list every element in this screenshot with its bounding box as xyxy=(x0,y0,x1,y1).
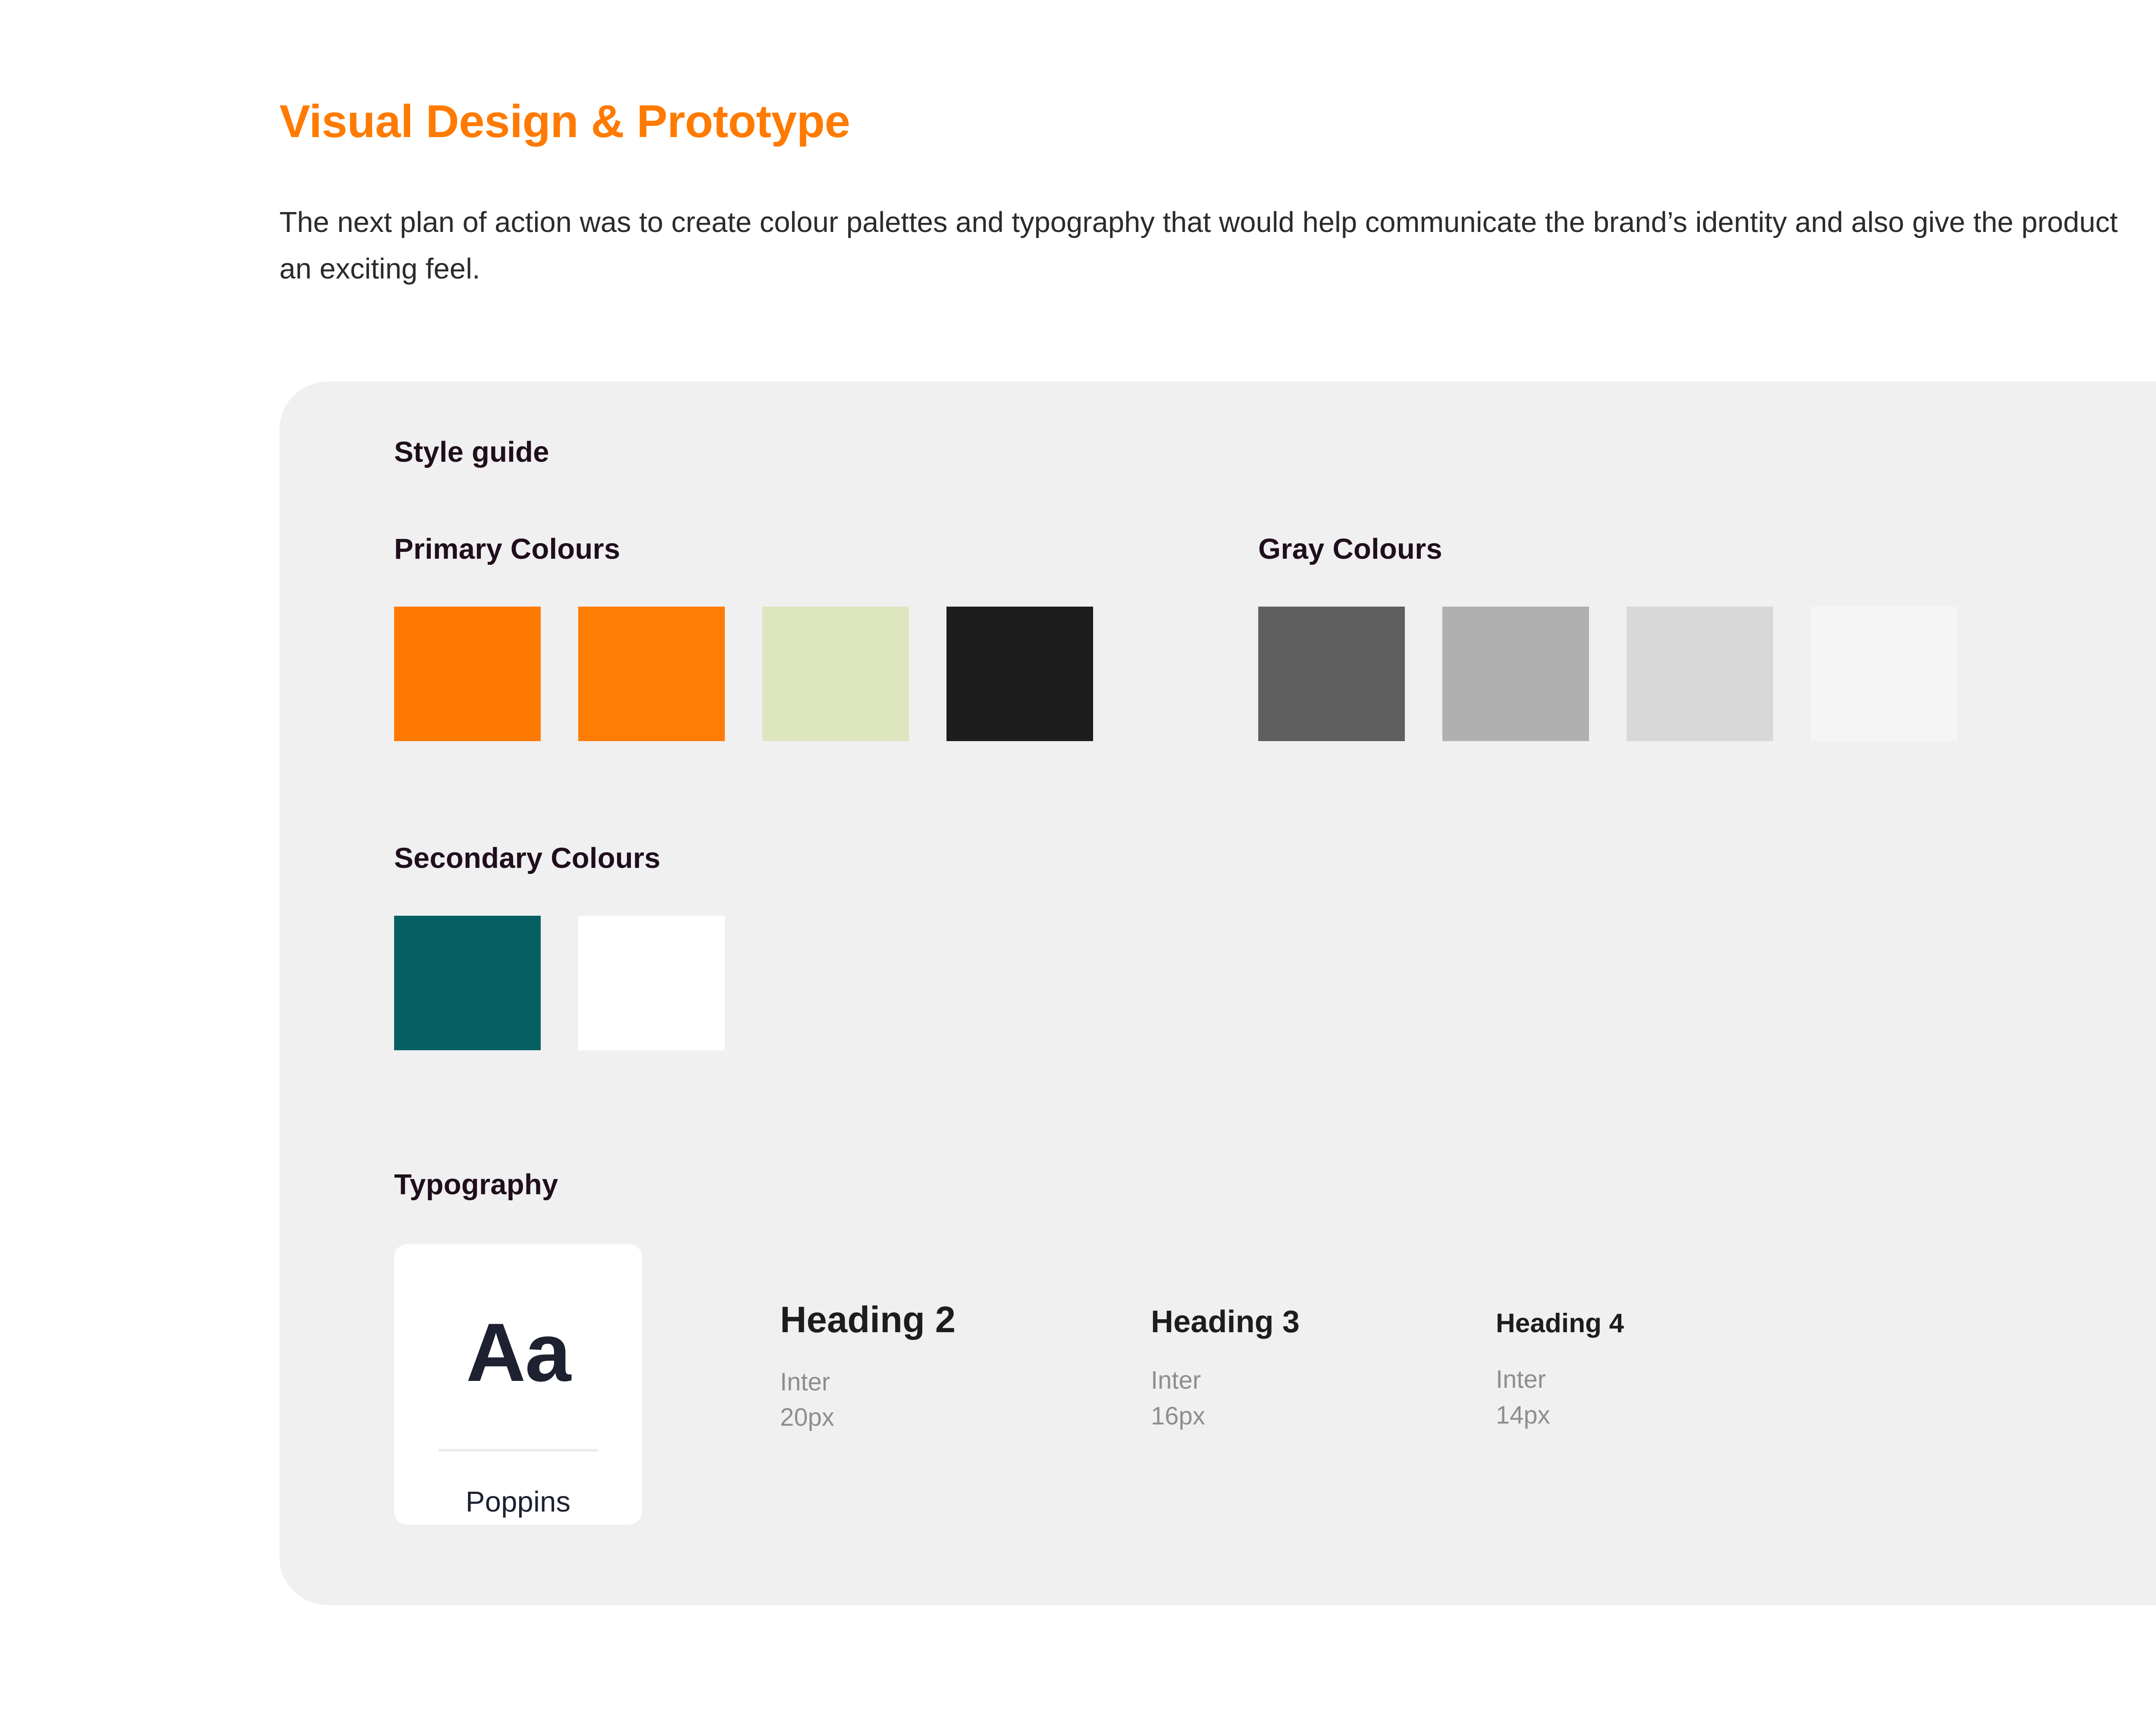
gray-colours-label: Gray Colours xyxy=(1258,532,1957,566)
specimen-title-heading-2: Heading 2 xyxy=(780,1298,1151,1342)
style-guide-panel: Style guide Primary Colours Gray Colours xyxy=(279,382,2156,1605)
specimen-meta-heading-3: Inter 16px xyxy=(1151,1340,1496,1434)
primary-colours-label: Primary Colours xyxy=(394,532,1093,566)
swatch-primary-near-black[interactable] xyxy=(946,607,1093,741)
swatch-gray-400[interactable] xyxy=(1442,607,1589,741)
specimen-title-heading-3: Heading 3 xyxy=(1151,1298,1496,1340)
specimen-size-heading-3: 16px xyxy=(1151,1399,1496,1434)
font-family-name: Poppins xyxy=(466,1452,571,1518)
secondary-swatch-row xyxy=(394,875,725,1050)
specimen-size-heading-2: 20px xyxy=(780,1400,1151,1435)
gray-swatch-row xyxy=(1258,566,1957,741)
specimen-font-heading-2: Inter xyxy=(780,1365,1151,1400)
specimen-meta-heading-4: Inter 14px xyxy=(1496,1340,1798,1433)
specimen-title-heading-4: Heading 4 xyxy=(1496,1298,1798,1340)
specimen-meta-heading-2: Inter 20px xyxy=(780,1342,1151,1436)
gray-colours-group: Gray Colours xyxy=(1258,532,1957,741)
swatch-gray-100[interactable] xyxy=(1811,607,1957,741)
page-title: Visual Design & Prototype xyxy=(279,96,2156,147)
type-specimen-list: Heading 2 Inter 20px Heading 3 Inter 16p… xyxy=(642,1244,1798,1436)
type-specimen-heading-3: Heading 3 Inter 16px xyxy=(1151,1298,1496,1434)
swatch-primary-orange-2[interactable] xyxy=(578,607,725,741)
typography-label: Typography xyxy=(394,1168,1798,1201)
page-root: Visual Design & Prototype The next plan … xyxy=(0,0,2156,1709)
type-specimen-heading-2: Heading 2 Inter 20px xyxy=(780,1298,1151,1436)
swatch-gray-300[interactable] xyxy=(1626,607,1773,741)
specimen-font-heading-4: Inter xyxy=(1496,1362,1798,1397)
primary-colours-group: Primary Colours xyxy=(394,532,1093,741)
swatch-primary-pale-green[interactable] xyxy=(762,607,909,741)
typography-area: Aa Poppins Heading 2 Inter 20px Heading … xyxy=(394,1201,1798,1524)
swatch-secondary-white[interactable] xyxy=(578,916,725,1050)
secondary-colours-group: Secondary Colours xyxy=(394,842,725,1050)
typography-group: Typography Aa Poppins Heading 2 Inter 20… xyxy=(394,1168,1798,1524)
swatch-gray-600[interactable] xyxy=(1258,607,1405,741)
primary-swatch-row xyxy=(394,566,1093,741)
swatch-primary-orange-1[interactable] xyxy=(394,607,541,741)
secondary-colours-label: Secondary Colours xyxy=(394,842,725,875)
specimen-font-heading-3: Inter xyxy=(1151,1363,1496,1398)
intro-paragraph: The next plan of action was to create co… xyxy=(279,147,2151,293)
specimen-size-heading-4: 14px xyxy=(1496,1398,1798,1433)
font-sample-aa: Aa xyxy=(466,1244,570,1394)
header-block: Visual Design & Prototype The next plan … xyxy=(279,96,2156,293)
swatch-secondary-teal[interactable] xyxy=(394,916,541,1050)
style-guide-heading: Style guide xyxy=(394,435,549,469)
type-specimen-heading-4: Heading 4 Inter 14px xyxy=(1496,1298,1798,1433)
font-family-card[interactable]: Aa Poppins xyxy=(394,1244,642,1524)
